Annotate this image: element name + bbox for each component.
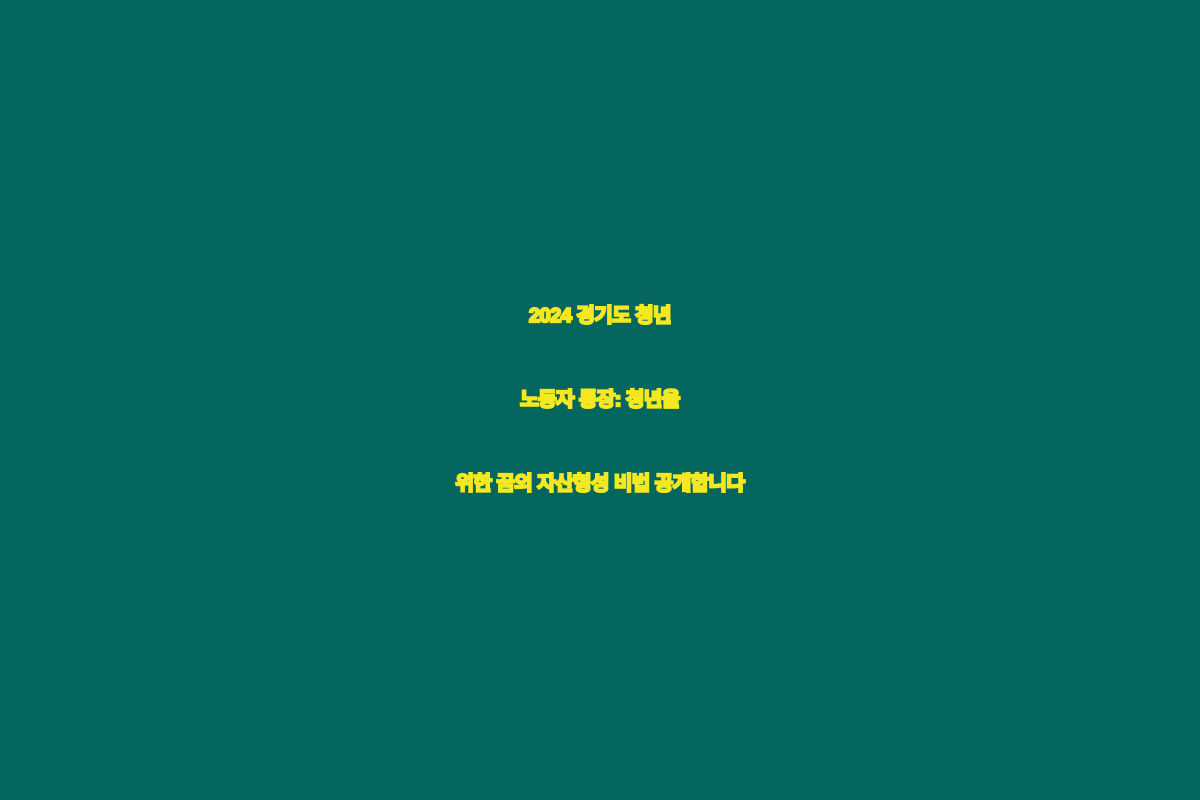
banner-card: 2024 경기도 청년 노동자 통장: 청년을 위한 꿈의 자산형성 비법 공개…: [0, 0, 1200, 800]
page-title: 2024 경기도 청년 노동자 통장: 청년을 위한 꿈의 자산형성 비법 공개…: [20, 274, 1180, 526]
headline-line-1: 2024 경기도 청년: [20, 274, 1180, 358]
headline-line-2: 노동자 통장: 청년을: [20, 358, 1180, 442]
headline-line-3: 위한 꿈의 자산형성 비법 공개합니다: [20, 442, 1180, 526]
